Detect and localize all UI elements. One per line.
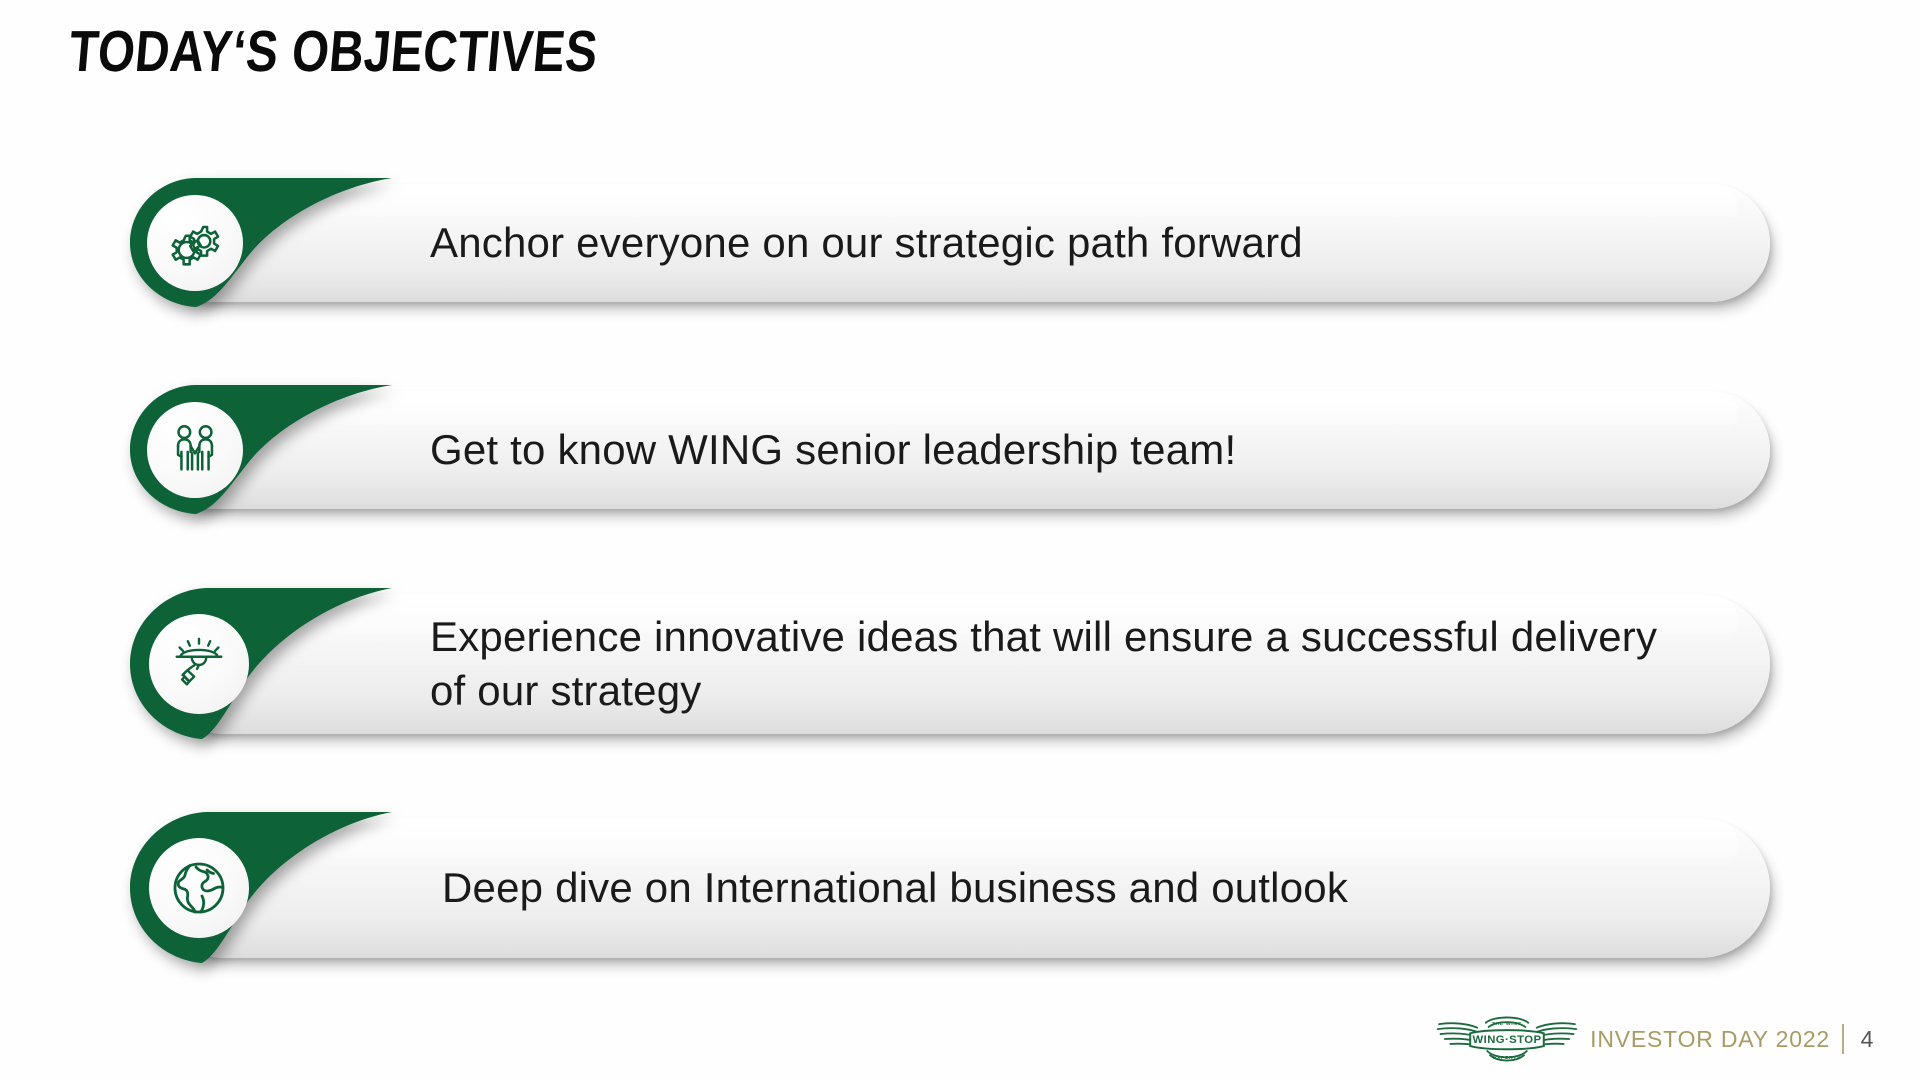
footer-divider xyxy=(1842,1024,1844,1054)
slide-canvas: TODAY‘S OBJECTIVES Anchor everyone on ou… xyxy=(0,0,1920,1080)
objective-row[interactable]: Experience innovative ideas that will en… xyxy=(130,588,1770,740)
svg-text:EXPERTS: EXPERTS xyxy=(1493,1055,1521,1061)
footer-event-label: INVESTOR DAY 2022 xyxy=(1590,1026,1830,1053)
globe-icon xyxy=(167,856,231,920)
page-number: 4 xyxy=(1856,1026,1878,1053)
objective-text: Deep dive on International business and … xyxy=(442,812,1700,964)
handshake-people-icon xyxy=(164,419,226,481)
objective-icon-disc xyxy=(149,838,249,938)
svg-text:THE WING: THE WING xyxy=(1492,1021,1522,1027)
objective-row[interactable]: Deep dive on International business and … xyxy=(130,812,1770,964)
objective-text: Get to know WING senior leadership team! xyxy=(430,385,1700,515)
objective-row[interactable]: Anchor everyone on our strategic path fo… xyxy=(130,178,1770,308)
objective-icon-disc xyxy=(149,614,249,714)
objective-icon-disc xyxy=(147,402,243,498)
objective-row[interactable]: Get to know WING senior leadership team! xyxy=(130,385,1770,515)
objective-text: Anchor everyone on our strategic path fo… xyxy=(430,178,1700,308)
slide-footer: WING·STOP THE WING EXPERTS INVESTOR DAY … xyxy=(1436,1010,1878,1068)
serving-tray-icon xyxy=(168,633,230,695)
gear-icon xyxy=(164,212,226,274)
objective-icon-disc xyxy=(147,195,243,291)
wingstop-wings-logo: WING·STOP THE WING EXPERTS xyxy=(1436,1010,1578,1068)
logo-wordmark: WING·STOP xyxy=(1473,1034,1542,1046)
objective-text: Experience innovative ideas that will en… xyxy=(430,588,1660,740)
page-title: TODAY‘S OBJECTIVES xyxy=(67,22,600,83)
